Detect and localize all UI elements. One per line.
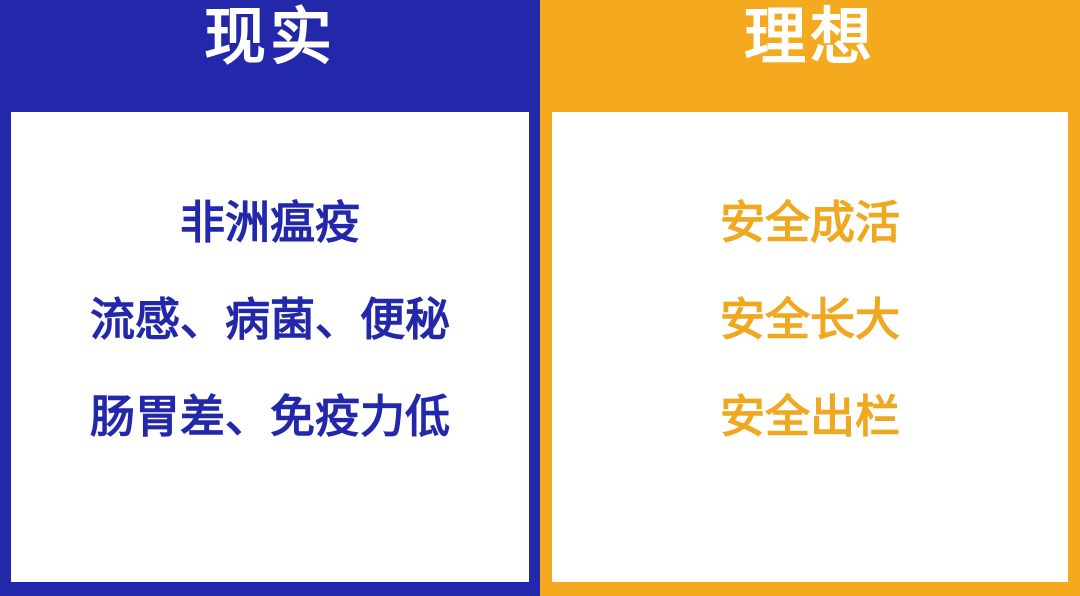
panel-ideal-line-list: 安全成活 安全长大 安全出栏 (566, 200, 1054, 439)
panel-reality-header: 现实 (11, 0, 529, 112)
panel-reality-title: 现实 (204, 6, 336, 68)
panel-reality-line-1: 非洲瘟疫 (25, 200, 515, 245)
panel-ideal-line-2: 安全长大 (566, 297, 1054, 342)
panel-reality-line-3: 肠胃差、免疫力低 (25, 394, 515, 439)
comparison-board: 现实 非洲瘟疫 流感、病菌、便秘 肠胃差、免疫力低 理想 安全成活 安全长大 安… (0, 0, 1080, 596)
panel-ideal-header: 理想 (552, 0, 1068, 112)
panel-reality-card: 非洲瘟疫 流感、病菌、便秘 肠胃差、免疫力低 (11, 112, 529, 582)
panel-reality-line-2: 流感、病菌、便秘 (25, 297, 515, 342)
panel-ideal-line-3: 安全出栏 (566, 394, 1054, 439)
panel-reality-line-list: 非洲瘟疫 流感、病菌、便秘 肠胃差、免疫力低 (25, 200, 515, 439)
panel-ideal-line-1: 安全成活 (566, 200, 1054, 245)
panel-reality: 现实 非洲瘟疫 流感、病菌、便秘 肠胃差、免疫力低 (0, 0, 540, 596)
panel-ideal-title: 理想 (744, 6, 876, 68)
panel-ideal: 理想 安全成活 安全长大 安全出栏 (540, 0, 1080, 596)
panel-ideal-card: 安全成活 安全长大 安全出栏 (552, 112, 1068, 582)
